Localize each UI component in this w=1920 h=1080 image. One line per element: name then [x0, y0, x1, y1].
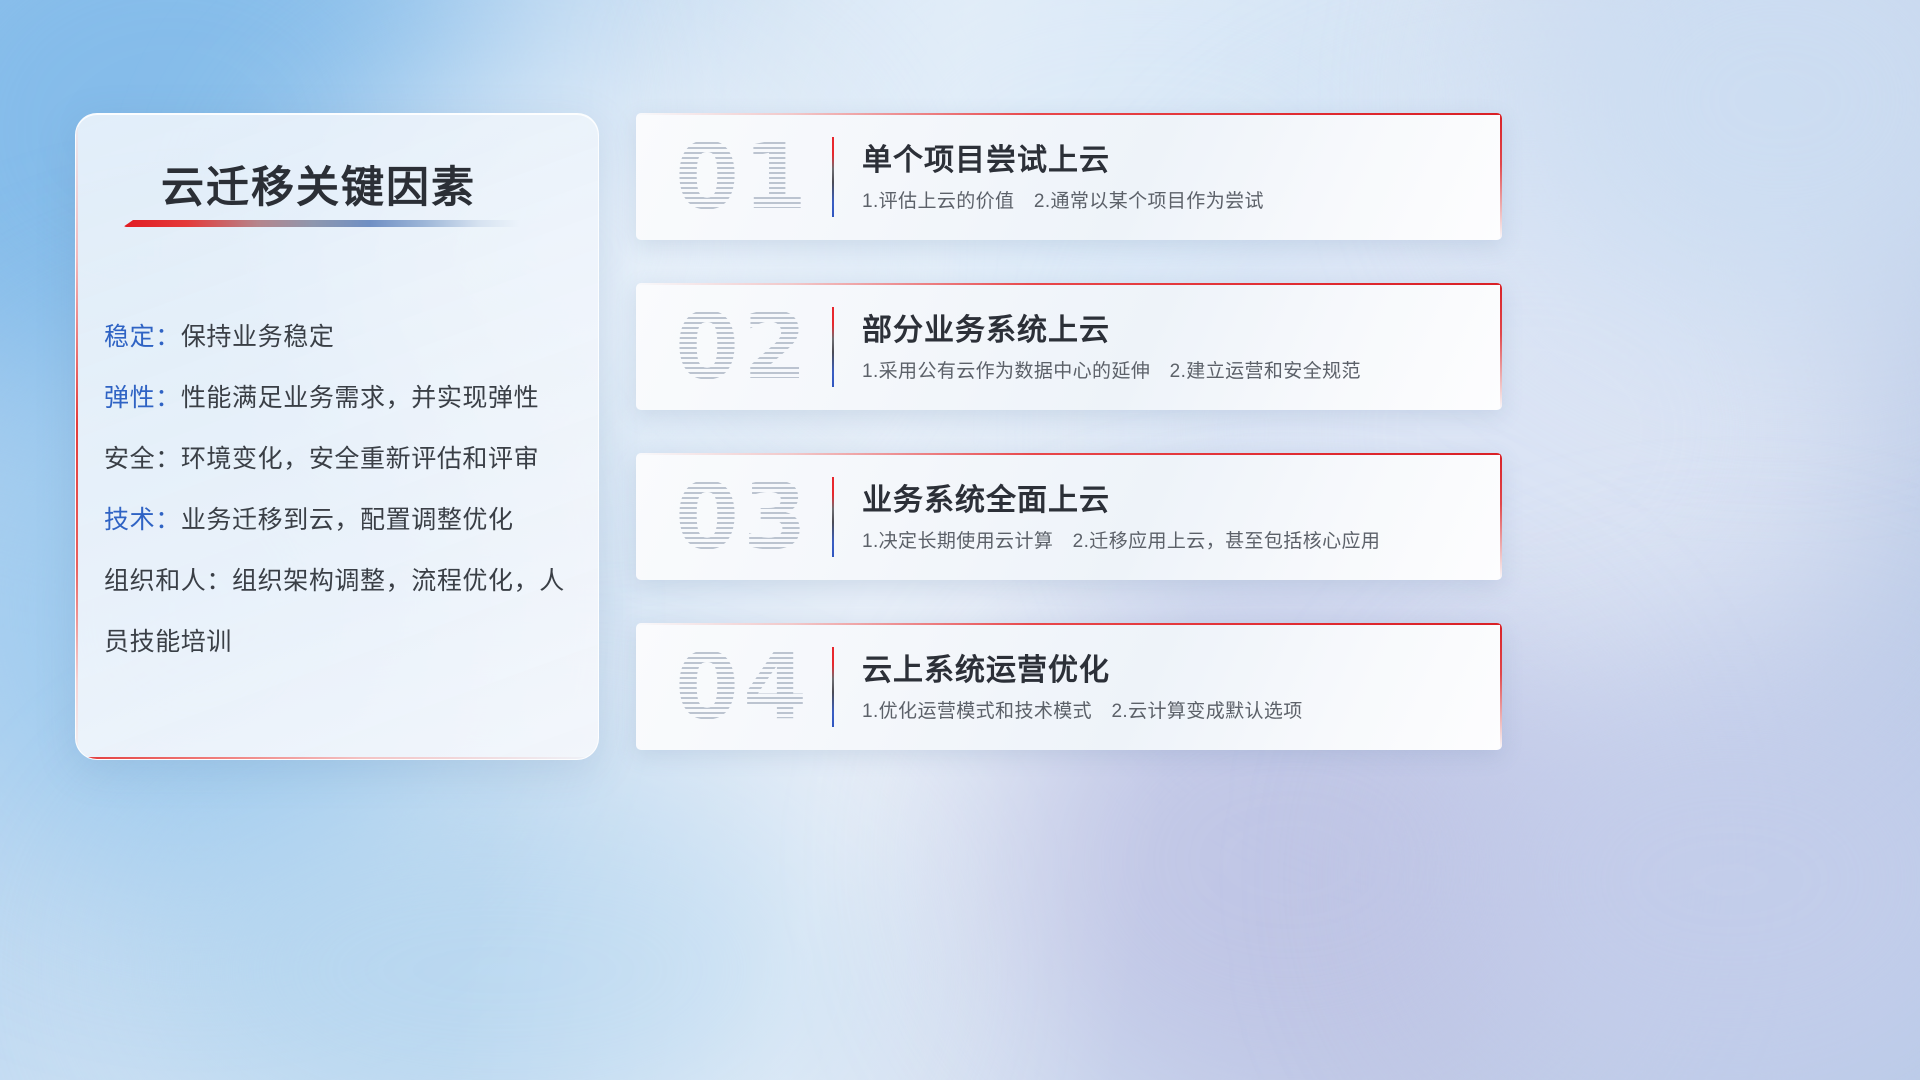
factor-list: 稳定：保持业务稳定弹性：性能满足业务需求，并实现弹性安全：环境变化，安全重新评估… [104, 307, 574, 673]
factor-value: 保持业务稳定 [181, 323, 335, 351]
stage-subtitle: 1.决定长期使用云计算 2.迁移应用上云，甚至包括核心应用 [862, 526, 1380, 553]
factor-item: 技术：业务迁移到云，配置调整优化 [104, 490, 574, 551]
page-title: 云迁移关键因素 [161, 153, 476, 215]
key-factors-panel: 云迁移关键因素 稳定：保持业务稳定弹性：性能满足业务需求，并实现弹性安全：环境变… [75, 113, 599, 760]
stage-title: 业务系统全面上云 [862, 475, 1110, 519]
factor-item: 安全：环境变化，安全重新评估和评审 [104, 429, 574, 490]
factor-value: 性能满足业务需求，并实现弹性 [181, 384, 539, 412]
stage-number: 02 [658, 297, 828, 397]
factor-item: 稳定：保持业务稳定 [104, 307, 574, 368]
factor-label: 稳定： [104, 323, 181, 351]
stage-card[interactable]: 02部分业务系统上云1.采用公有云作为数据中心的延伸 2.建立运营和安全规范 [636, 283, 1502, 410]
stage-title: 云上系统运营优化 [862, 645, 1110, 689]
factor-label: 安全： [104, 445, 181, 473]
factor-label: 弹性： [104, 384, 181, 412]
stage-title: 部分业务系统上云 [862, 305, 1110, 349]
factor-value: 业务迁移到云，配置调整优化 [181, 506, 514, 534]
stage-card[interactable]: 03业务系统全面上云1.决定长期使用云计算 2.迁移应用上云，甚至包括核心应用 [636, 453, 1502, 580]
stage-card[interactable]: 04云上系统运营优化1.优化运营模式和技术模式 2.云计算变成默认选项 [636, 623, 1502, 750]
stage-subtitle: 1.采用公有云作为数据中心的延伸 2.建立运营和安全规范 [862, 356, 1361, 383]
title-underline-rule [123, 220, 520, 227]
stage-card-list: 01单个项目尝试上云1.评估上云的价值 2.通常以某个项目作为尝试02部分业务系… [636, 113, 1502, 793]
stage-divider [832, 647, 834, 727]
stage-divider [832, 137, 834, 217]
stage-divider [832, 307, 834, 387]
stage-number: 04 [658, 637, 828, 737]
stage-subtitle: 1.评估上云的价值 2.通常以某个项目作为尝试 [862, 186, 1264, 213]
stage-subtitle: 1.优化运营模式和技术模式 2.云计算变成默认选项 [862, 696, 1303, 723]
factor-item: 组织和人：组织架构调整，流程优化，人员技能培训 [104, 551, 574, 673]
factor-item: 弹性：性能满足业务需求，并实现弹性 [104, 368, 574, 429]
factor-label: 组织和人： [104, 567, 232, 595]
stage-title: 单个项目尝试上云 [862, 135, 1110, 179]
stage-number: 01 [658, 127, 828, 227]
stage-divider [832, 477, 834, 557]
stage-number: 03 [658, 467, 828, 567]
factor-value: 环境变化，安全重新评估和评审 [181, 445, 539, 473]
stage-card[interactable]: 01单个项目尝试上云1.评估上云的价值 2.通常以某个项目作为尝试 [636, 113, 1502, 240]
factor-label: 技术： [104, 506, 181, 534]
